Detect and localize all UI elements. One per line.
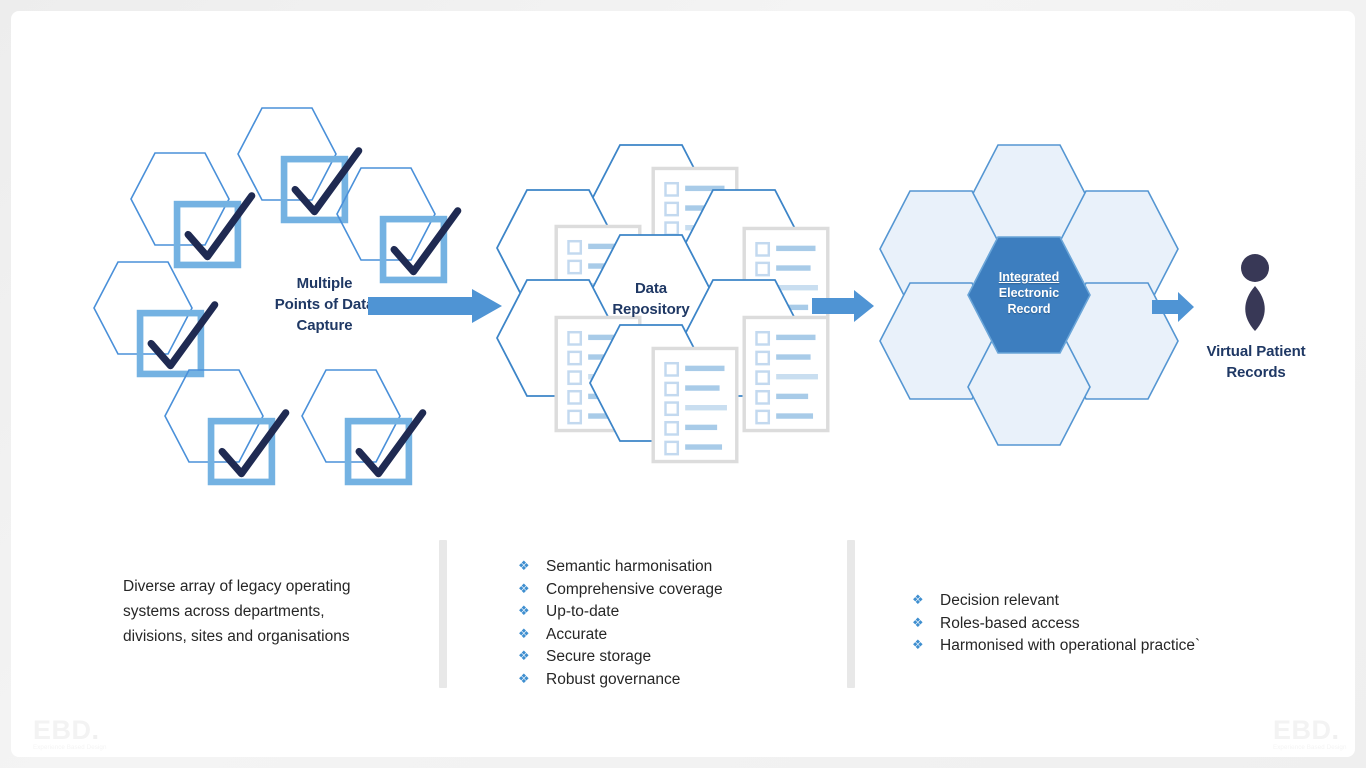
document-checklist-icon: [633, 346, 669, 394]
list-item: ❖ Roles-based access: [912, 613, 1200, 636]
diamond-bullet-icon: ❖: [518, 623, 530, 646]
list-item-label: Comprehensive coverage: [546, 581, 723, 598]
checkbox-checked-icon: [126, 291, 160, 325]
arrow-record-to-patient: [1152, 292, 1194, 322]
document-checklist-icon: [536, 315, 572, 363]
checkbox-checked-icon: [270, 137, 304, 171]
ier-label-line1: Integrated: [967, 269, 1091, 285]
checkbox-checked-icon: [334, 399, 368, 433]
data-repository-cluster: Data Repository: [494, 144, 814, 454]
watermark-tagline: Experience Based Design: [1273, 744, 1355, 751]
ebd-logo-watermark-right: EBD. Experience Based Design: [1273, 716, 1355, 757]
repo-label-line1: Data: [589, 278, 713, 299]
list-item-label: Decision relevant: [940, 592, 1059, 609]
capture-hex-4: [93, 261, 193, 355]
capture-hex-6: [301, 369, 401, 463]
legacy-systems-description: Diverse array of legacy operating system…: [123, 574, 385, 649]
list-item-label: Robust governance: [546, 671, 680, 688]
list-item-label: Roles-based access: [940, 615, 1080, 632]
patient-person-icon: [1232, 253, 1278, 343]
ebd-logo-watermark-left: EBD. Experience Based Design: [33, 716, 125, 757]
list-item: ❖ Comprehensive coverage: [518, 579, 723, 602]
list-item: ❖ Harmonised with operational practice`: [912, 635, 1200, 658]
data-capture-cluster: Multiple Points of Data Capture: [89, 106, 509, 466]
document-checklist-icon: [633, 166, 669, 214]
repository-qualities-list: ❖ Semantic harmonisation ❖ Comprehensive…: [518, 556, 723, 691]
ier-label-line3: Record: [967, 301, 1091, 317]
ier-label-line2: Electronic: [967, 285, 1091, 301]
step-label-data-repository: Data Repository: [589, 278, 713, 320]
list-item-label: Up-to-date: [546, 603, 619, 620]
list-item-label: Accurate: [546, 626, 607, 643]
patient-label-line2: Records: [1171, 362, 1341, 383]
step-label-virtual-patient-records: Virtual Patient Records: [1171, 341, 1341, 383]
document-checklist-icon: [536, 224, 572, 272]
list-item: ❖ Robust governance: [518, 669, 723, 692]
repo-hex-bottom: [589, 324, 713, 442]
watermark-tagline: Experience Based Design: [33, 744, 125, 751]
divider-left: [439, 540, 447, 688]
list-item-label: Secure storage: [546, 648, 651, 665]
list-item: ❖ Decision relevant: [912, 590, 1200, 613]
list-item-label: Semantic harmonisation: [546, 558, 712, 575]
capture-hex-2: [237, 107, 337, 201]
checkbox-checked-icon: [197, 399, 231, 433]
slide-canvas: Multiple Points of Data Capture: [11, 11, 1355, 757]
slide-frame: Multiple Points of Data Capture: [0, 0, 1366, 768]
arrow-capture-to-repository: [368, 289, 502, 323]
list-item: ❖ Up-to-date: [518, 601, 723, 624]
diamond-bullet-icon: ❖: [518, 578, 530, 601]
list-item: ❖ Secure storage: [518, 646, 723, 669]
checkbox-checked-icon: [163, 182, 197, 216]
arrow-repository-to-record: [812, 290, 874, 322]
diamond-bullet-icon: ❖: [912, 589, 924, 612]
diamond-bullet-icon: ❖: [912, 634, 924, 657]
watermark-wordmark: EBD.: [1273, 716, 1355, 744]
capture-hex-5: [164, 369, 264, 463]
watermark-wordmark: EBD.: [33, 716, 125, 744]
diamond-bullet-icon: ❖: [912, 612, 924, 635]
repo-label-line2: Repository: [589, 299, 713, 320]
diamond-bullet-icon: ❖: [518, 600, 530, 623]
checkbox-checked-icon: [369, 197, 403, 231]
list-item-label: Harmonised with operational practice`: [940, 637, 1200, 654]
step-label-integrated-electronic-record: Integrated Electronic Record: [967, 269, 1091, 317]
diamond-bullet-icon: ❖: [518, 555, 530, 578]
capture-hex-3: [336, 167, 436, 261]
diamond-bullet-icon: ❖: [518, 668, 530, 691]
document-checklist-icon: [724, 226, 760, 274]
divider-right: [847, 540, 855, 688]
capture-hex-1: [130, 152, 230, 246]
list-item: ❖ Accurate: [518, 624, 723, 647]
record-benefits-list: ❖ Decision relevant ❖ Roles-based access…: [912, 590, 1200, 658]
diamond-bullet-icon: ❖: [518, 645, 530, 668]
list-item: ❖ Semantic harmonisation: [518, 556, 723, 579]
patient-label-line1: Virtual Patient: [1171, 341, 1341, 362]
integrated-record-cluster: Integrated Electronic Record: [879, 144, 1179, 456]
